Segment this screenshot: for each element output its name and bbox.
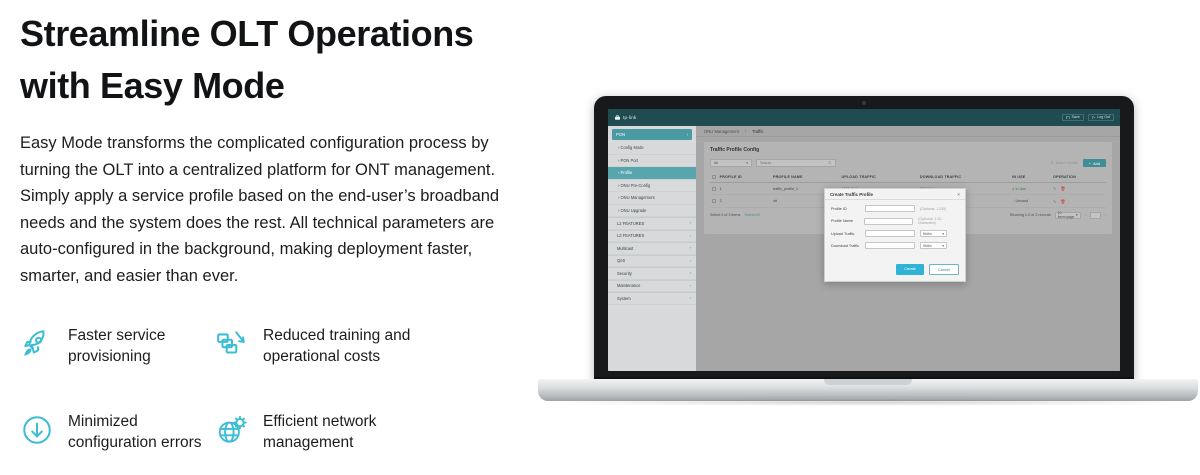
sidebar-item-label: QoS bbox=[617, 258, 625, 263]
row-checkbox[interactable] bbox=[710, 195, 718, 207]
logout-button[interactable]: Log Out bbox=[1088, 114, 1114, 122]
laptop-mockup: tp-link Save bbox=[538, 96, 1198, 426]
chevron-down-icon: ▾ bbox=[942, 244, 944, 248]
feature-item-reduced-costs: Reduced training and operational costs bbox=[215, 325, 520, 395]
delete-icon[interactable]: 🗑 bbox=[1060, 199, 1065, 204]
sidebar-item-multicast[interactable]: Multicast› bbox=[608, 242, 696, 255]
panel-title: Traffic Profile Config bbox=[710, 147, 1106, 153]
feature-label: Efficient network management bbox=[263, 411, 423, 453]
column-download-traffic: DOWNLOAD TRAFFIC bbox=[918, 172, 1010, 183]
logout-icon bbox=[1092, 116, 1096, 120]
trash-icon bbox=[1050, 161, 1054, 166]
dialog-actions: Create Cancel bbox=[825, 258, 965, 281]
app-body: PON › › Config Mode› PON Port› Profile› … bbox=[608, 126, 1120, 371]
chevron-down-icon: ▾ bbox=[942, 232, 944, 236]
laptop-screen: tp-link Save bbox=[608, 109, 1120, 371]
sidebar-item-label: › PON Port bbox=[618, 158, 638, 163]
selection-count: Select 0 of 2 items bbox=[710, 213, 740, 217]
sidebar-item-label: › ONU Upgrade bbox=[618, 208, 646, 213]
column-profile-id: PROFILE ID bbox=[718, 172, 771, 183]
save-label: Save bbox=[1072, 116, 1080, 120]
form-row: Profile ID(Optional: 1-255) bbox=[831, 205, 959, 212]
breadcrumb-parent[interactable]: ONU Management bbox=[704, 129, 739, 134]
olt-web-ui: tp-link Save bbox=[608, 109, 1120, 371]
sidebar-item-pon[interactable]: PON › bbox=[612, 129, 692, 140]
column-in-use: IN USE bbox=[1010, 172, 1051, 183]
breadcrumb-separator: / bbox=[745, 129, 746, 134]
sidebar-item-onu-pre-config[interactable]: › ONU Pre-Config bbox=[608, 180, 696, 193]
cancel-button[interactable]: Cancel bbox=[929, 264, 959, 275]
feature-label: Minimized configuration errors bbox=[68, 411, 215, 453]
column-upload-traffic: UPLOAD TRAFFIC bbox=[840, 172, 918, 183]
add-button[interactable]: + Add bbox=[1083, 159, 1106, 167]
laptop-shadow bbox=[544, 399, 1192, 406]
chevron-down-icon: › bbox=[687, 132, 688, 137]
feature-item-faster-service: Faster service provisioning bbox=[20, 325, 215, 395]
field-hint: (Optional: 1-255) bbox=[920, 207, 946, 211]
sidebar-item-pon-port[interactable]: › PON Port bbox=[608, 155, 696, 168]
hero-text-column: Streamline OLT Operations with Easy Mode… bbox=[20, 8, 540, 289]
field-hint: (Optional: 1-32 characters) bbox=[918, 217, 959, 225]
cost-reduction-icon bbox=[215, 327, 249, 361]
batch-delete-button[interactable]: Batch Delete bbox=[1050, 161, 1077, 166]
headline-line-1: Streamline OLT Operations bbox=[20, 8, 540, 60]
field-label: Upload Traffic bbox=[831, 232, 865, 236]
webcam-icon bbox=[862, 101, 866, 105]
logout-label: Log Out bbox=[1097, 116, 1110, 120]
topbar-actions: Save Log Out bbox=[1062, 114, 1114, 122]
breadcrumb-current: Traffic bbox=[752, 129, 763, 134]
dialog-form: Profile ID(Optional: 1-255)Profile Name(… bbox=[825, 200, 965, 258]
cell-profile-id: 1 bbox=[718, 183, 771, 195]
filter-select[interactable]: All ▾ bbox=[710, 159, 752, 167]
sidebar-item-label: › ONU Pre-Config bbox=[618, 183, 650, 188]
save-icon bbox=[1066, 116, 1070, 120]
pagination: Showing 1-2 of 2 records 10 items/page ▾… bbox=[1010, 212, 1106, 219]
field-input[interactable] bbox=[865, 205, 915, 212]
create-traffic-profile-dialog: Create Traffic Profile × Profile ID(Opti… bbox=[824, 188, 966, 282]
sidebar-menu: › Config Mode› PON Port› Profile› ONU Pr… bbox=[608, 142, 696, 305]
laptop-lid: tp-link Save bbox=[594, 96, 1134, 383]
unit-select[interactable]: Kbit/s▾ bbox=[920, 230, 947, 237]
sidebar-item-maintenance[interactable]: Maintenance› bbox=[608, 280, 696, 293]
laptop-base bbox=[538, 379, 1198, 401]
sidebar-item-security[interactable]: Security› bbox=[608, 267, 696, 280]
unit-value: Kbit/s bbox=[923, 232, 932, 236]
app-main: ONU Management / Traffic Traffic Profile… bbox=[696, 126, 1120, 371]
sidebar-item-label: L3 FEATURES bbox=[617, 233, 644, 238]
field-input[interactable] bbox=[865, 230, 915, 237]
sidebar-item-profile[interactable]: › Profile bbox=[608, 167, 696, 180]
panel-toolbar: All ▾ Search bbox=[710, 159, 1106, 167]
feature-list: Faster service provisioning Reduced trai… bbox=[20, 325, 520, 475]
toolbar-left: All ▾ Search bbox=[710, 159, 836, 167]
globe-gear-icon bbox=[215, 413, 249, 447]
search-icon bbox=[828, 161, 832, 166]
app-sidebar: PON › › Config Mode› PON Port› Profile› … bbox=[608, 126, 696, 371]
chevron-right-icon: › bbox=[690, 246, 691, 250]
search-placeholder: Search bbox=[760, 161, 771, 165]
delete-icon[interactable]: 🗑 bbox=[1060, 186, 1065, 191]
unit-select[interactable]: Kbit/s▾ bbox=[920, 242, 947, 249]
field-label: Profile ID bbox=[831, 207, 865, 211]
prev-page-button[interactable]: ‹ bbox=[1085, 213, 1086, 217]
create-button[interactable]: Create bbox=[896, 264, 924, 275]
sidebar-item-system[interactable]: System› bbox=[608, 292, 696, 305]
chevron-down-icon: ▾ bbox=[746, 161, 748, 165]
feature-item-efficient-management: Efficient network management bbox=[215, 411, 520, 475]
chevron-right-icon: › bbox=[690, 259, 691, 263]
row-checkbox[interactable] bbox=[710, 183, 718, 195]
feature-label: Faster service provisioning bbox=[68, 325, 215, 367]
field-label: Profile Name bbox=[831, 219, 864, 223]
sidebar-item-label: › ONU Management bbox=[618, 195, 655, 200]
chevron-right-icon: › bbox=[690, 234, 691, 238]
add-label: Add bbox=[1093, 161, 1100, 166]
sidebar-item-onu-management[interactable]: › ONU Management bbox=[608, 192, 696, 205]
sidebar-header-label: PON bbox=[616, 132, 625, 137]
sidebar-item-l2-features[interactable]: L2 FEATURES› bbox=[608, 217, 696, 230]
cell-operation: ✎🗑 bbox=[1051, 183, 1106, 195]
table-header-row: PROFILE ID PROFILE NAME UPLOAD TRAFFIC D… bbox=[710, 172, 1106, 183]
batch-delete-label: Batch Delete bbox=[1056, 161, 1078, 165]
column-profile-name: PROFILE NAME bbox=[771, 172, 840, 183]
app-topbar: tp-link Save bbox=[608, 109, 1120, 126]
filter-value: All bbox=[714, 161, 718, 165]
page-size-value: 10 items/page bbox=[1058, 211, 1076, 219]
form-row: Upload TrafficKbit/s▾ bbox=[831, 230, 959, 237]
feature-label: Reduced training and operational costs bbox=[263, 325, 423, 367]
sidebar-item-onu-upgrade[interactable]: › ONU Upgrade bbox=[608, 205, 696, 218]
page-number-input[interactable] bbox=[1090, 212, 1101, 219]
search-input[interactable]: Search bbox=[756, 159, 836, 167]
sidebar-item-label: L2 FEATURES bbox=[617, 221, 644, 226]
select-all-link[interactable]: Select All bbox=[744, 213, 759, 217]
edit-icon[interactable]: ✎ bbox=[1053, 199, 1056, 204]
brand-logo: tp-link bbox=[614, 114, 636, 121]
chevron-right-icon: › bbox=[690, 271, 691, 275]
toolbar-right: Batch Delete + Add bbox=[1050, 159, 1106, 167]
close-icon[interactable]: × bbox=[957, 192, 960, 197]
chevron-right-icon: › bbox=[690, 284, 691, 288]
hero-section: Streamline OLT Operations with Easy Mode… bbox=[0, 0, 1200, 475]
field-input[interactable] bbox=[864, 218, 913, 225]
column-operation: OPERATION bbox=[1051, 172, 1106, 183]
form-row: Download TrafficKbit/s▾ bbox=[831, 242, 959, 249]
sidebar-item-config-mode[interactable]: › Config Mode bbox=[608, 142, 696, 155]
sidebar-item-label: Multicast bbox=[617, 246, 633, 251]
tplink-logo-icon bbox=[614, 114, 621, 121]
select-all-checkbox[interactable] bbox=[710, 172, 718, 183]
sidebar-item-label: Security bbox=[617, 271, 632, 276]
sidebar-item-label: Maintenance bbox=[617, 283, 640, 288]
cell-in-use: Unused bbox=[1010, 195, 1051, 207]
sidebar-item-label: › Profile bbox=[618, 170, 632, 175]
cell-profile-id: 2 bbox=[718, 195, 771, 207]
breadcrumb: ONU Management / Traffic bbox=[696, 126, 1120, 137]
chevron-right-icon: › bbox=[690, 221, 691, 225]
field-label: Download Traffic bbox=[831, 244, 865, 248]
plus-icon: + bbox=[1089, 161, 1091, 166]
page-title: Streamline OLT Operations with Easy Mode bbox=[20, 8, 540, 112]
cell-operation: ✎🗑 bbox=[1051, 195, 1106, 207]
rocket-icon bbox=[20, 327, 54, 361]
feature-item-minimized-errors: Minimized configuration errors bbox=[20, 411, 215, 475]
unit-value: Kbit/s bbox=[923, 244, 932, 248]
edit-icon[interactable]: ✎ bbox=[1053, 186, 1056, 191]
record-count: Showing 1-2 of 2 records bbox=[1010, 213, 1051, 217]
form-row: Profile Name(Optional: 1-32 characters) bbox=[831, 217, 959, 225]
hero-body-text: Easy Mode transforms the complicated con… bbox=[20, 130, 520, 289]
sidebar-item-label: System bbox=[617, 296, 631, 301]
save-button[interactable]: Save bbox=[1062, 114, 1084, 122]
sidebar-item-qos[interactable]: QoS› bbox=[608, 255, 696, 268]
chevron-right-icon: › bbox=[690, 296, 691, 300]
page-size-select[interactable]: 10 items/page ▾ bbox=[1055, 212, 1081, 219]
dialog-title: Create Traffic Profile bbox=[830, 192, 873, 197]
sidebar-item-label: › Config Mode bbox=[618, 145, 644, 150]
dialog-header: Create Traffic Profile × bbox=[825, 189, 965, 200]
sidebar-item-l3-features[interactable]: L3 FEATURES› bbox=[608, 230, 696, 243]
down-arrow-circle-icon bbox=[20, 413, 54, 447]
next-page-button[interactable]: › bbox=[1105, 213, 1106, 217]
field-input[interactable] bbox=[865, 242, 915, 249]
cell-in-use: In Use bbox=[1010, 183, 1051, 195]
headline-line-2: with Easy Mode bbox=[20, 60, 540, 112]
chevron-down-icon: ▾ bbox=[1076, 213, 1078, 217]
selection-info: Select 0 of 2 items Select All bbox=[710, 213, 760, 217]
brand-name: tp-link bbox=[623, 115, 636, 120]
